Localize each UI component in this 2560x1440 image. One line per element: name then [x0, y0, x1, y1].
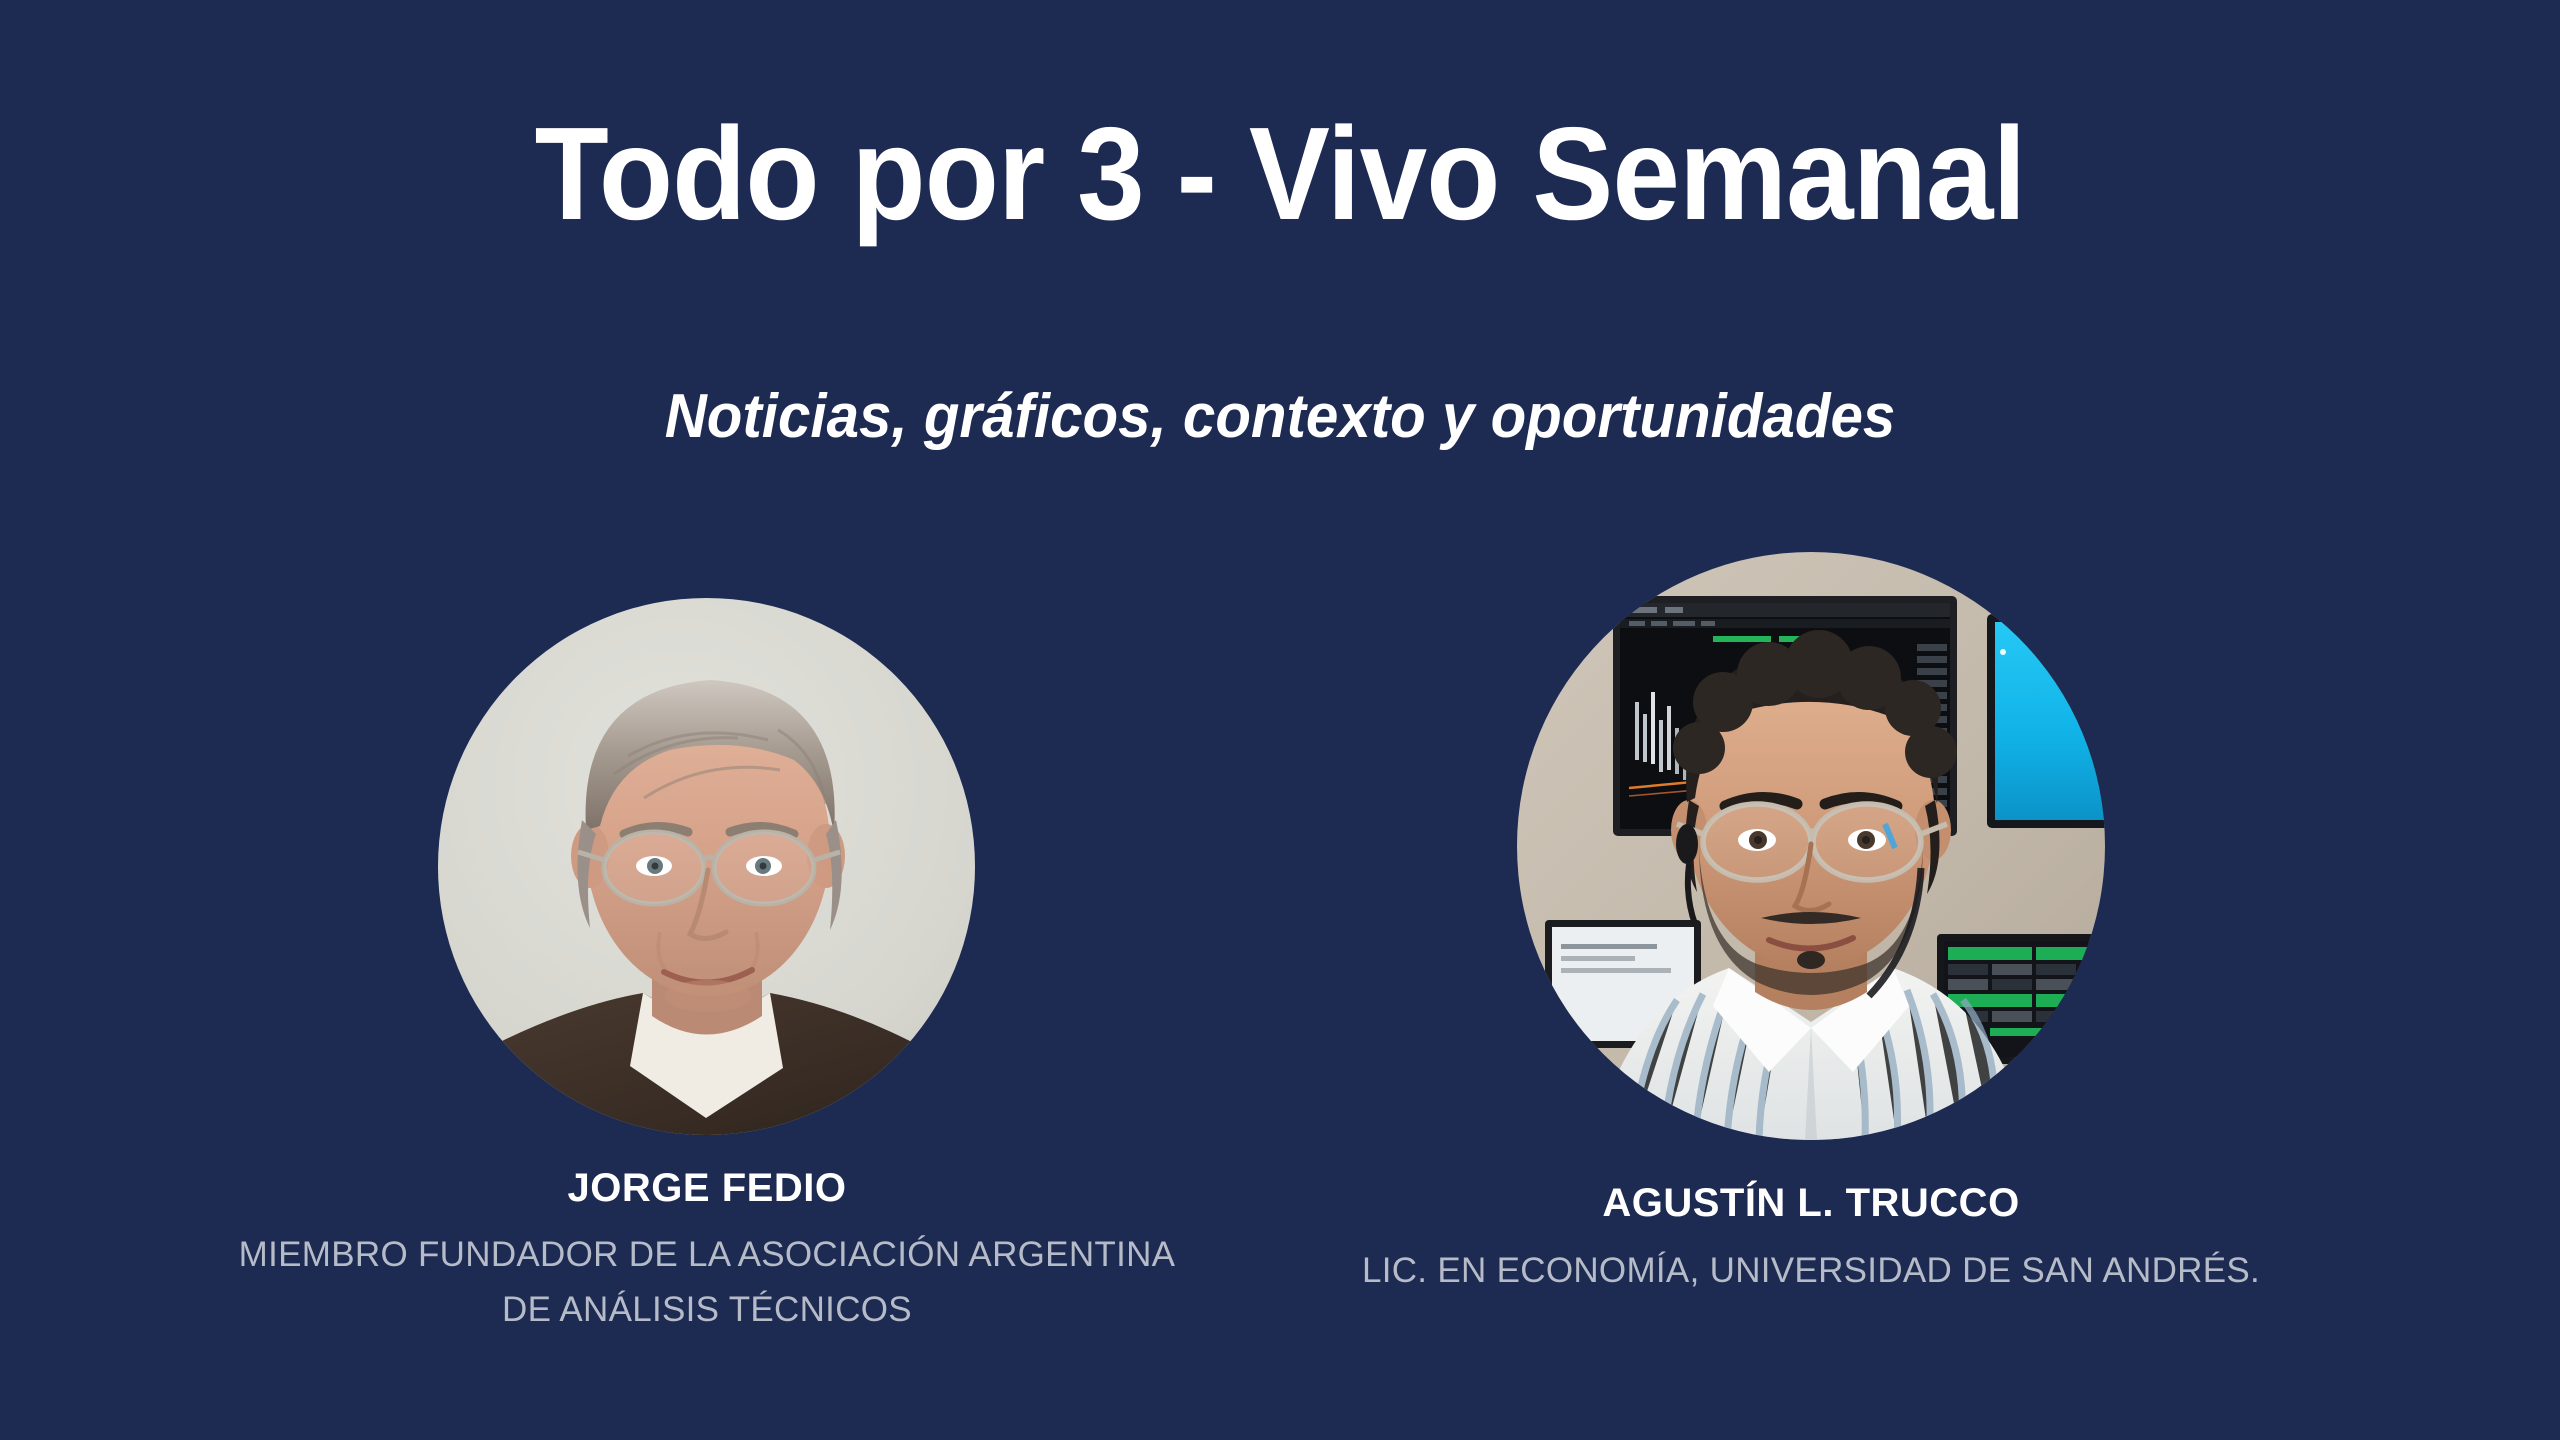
speaker-name-right: AGUSTÍN L. TRUCCO	[1311, 1181, 2311, 1226]
presentation-slide: Todo por 3 - Vivo Semanal Noticias, gráf…	[0, 0, 2560, 1440]
avatar-jorge-fedio	[438, 598, 975, 1135]
page-title: Todo por 3 - Vivo Semanal	[102, 108, 2457, 240]
page-subtitle: Noticias, gráficos, contexto y oportunid…	[77, 386, 2483, 448]
speaker-credential-right: LIC. EN ECONOMÍA, UNIVERSIDAD DE SAN AND…	[1161, 1243, 2461, 1298]
speaker-credential-right-line1: LIC. EN ECONOMÍA, UNIVERSIDAD DE SAN AND…	[1161, 1243, 2461, 1298]
speaker-name-left: JORGE FEDIO	[207, 1166, 1207, 1211]
avatar-agustin-trucco	[1517, 552, 2105, 1140]
